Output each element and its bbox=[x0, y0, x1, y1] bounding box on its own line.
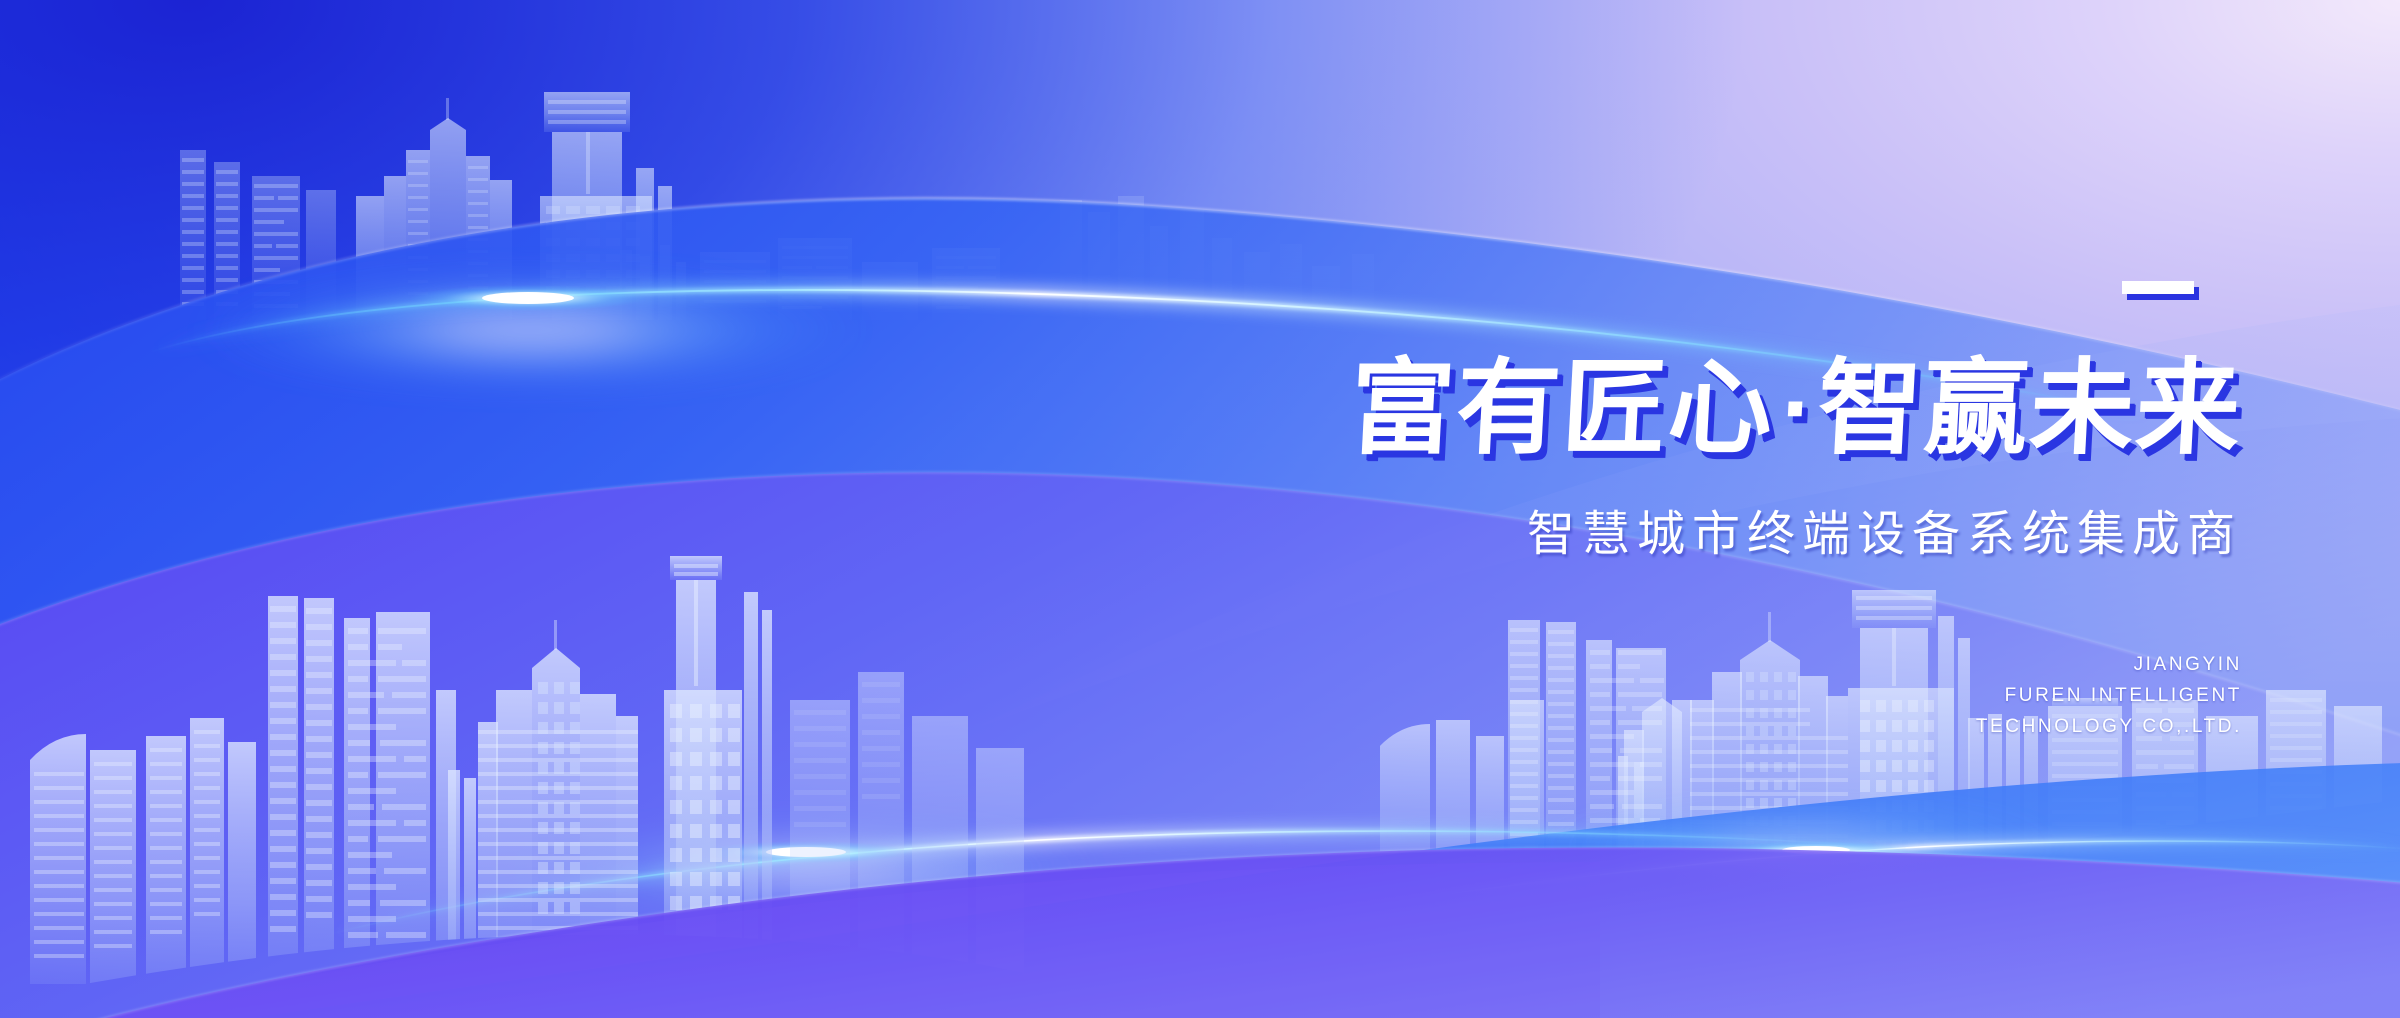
brand-banner: 富有匠心·智赢未来 智慧城市终端设备系统集成商 JIANGYIN FUREN I… bbox=[0, 0, 2400, 1018]
scenery-illustration bbox=[0, 0, 2400, 1018]
